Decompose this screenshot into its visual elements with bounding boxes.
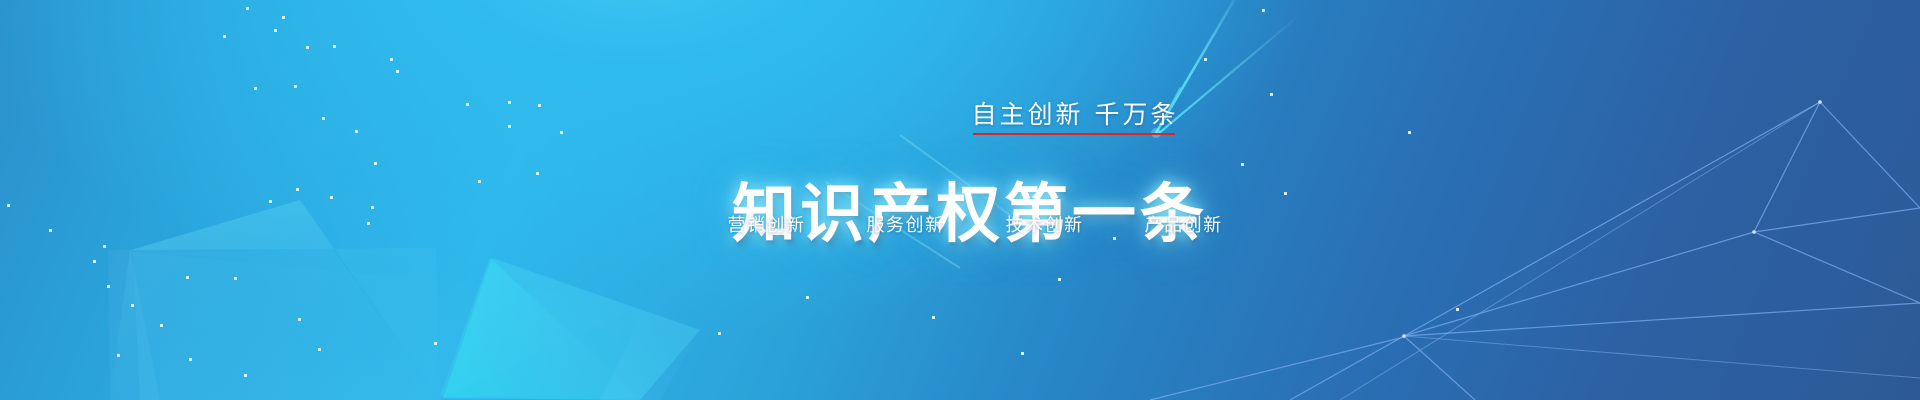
hero-banner: 自主创新 千万条 知识产权第一条 营销创新 服务创新 技术创新 产品创新 <box>0 0 1920 400</box>
banner-tag-marketing-innovation[interactable]: 营销创新 <box>727 213 805 239</box>
banner-tag-list: 营销创新 服务创新 技术创新 产品创新 <box>699 213 1250 239</box>
banner-tag-row: 营销创新 服务创新 技术创新 产品创新 <box>0 213 1920 239</box>
banner-subtitle: 自主创新 千万条 <box>972 98 1179 132</box>
banner-tag-service-innovation[interactable]: 服务创新 <box>866 213 944 239</box>
banner-subtitle-row: 自主创新 千万条 <box>0 98 1920 132</box>
banner-subtitle-group: 自主创新 千万条 <box>972 98 1179 132</box>
banner-tag-technology-innovation[interactable]: 技术创新 <box>1006 213 1084 239</box>
banner-tag-product-innovation[interactable]: 产品创新 <box>1145 213 1223 239</box>
banner-content: 自主创新 千万条 知识产权第一条 营销创新 服务创新 技术创新 产品创新 <box>0 0 1920 400</box>
